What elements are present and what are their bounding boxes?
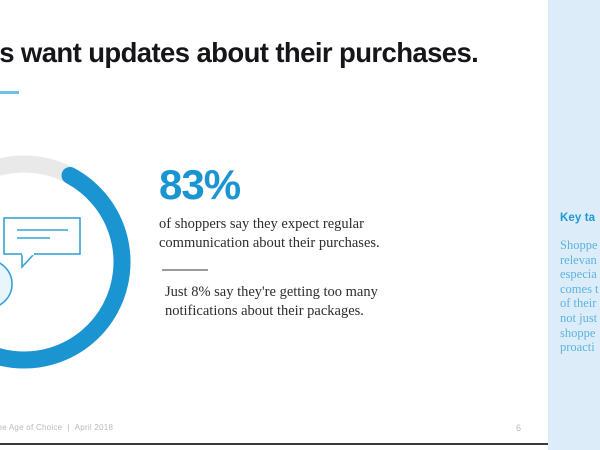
speech-bubble-icon [0, 212, 100, 322]
page-title: ppers want updates about their purchases… [0, 37, 600, 69]
key-takeaway-line: especia [560, 267, 600, 282]
slide-canvas: ppers want updates about their purchases… [0, 0, 600, 450]
page-number: 6 [516, 423, 521, 433]
stat-lead-text: of shoppers say they expect regular comm… [159, 215, 399, 253]
key-takeaway-line: relevan [560, 253, 600, 268]
speech-bubble-tail [22, 254, 34, 267]
key-takeaway-title: Key ta [560, 212, 600, 224]
key-takeaway-line: of their [560, 296, 600, 311]
key-takeaway-body: Shoppe relevan especia comes t of their … [560, 238, 600, 355]
stat-value: 83% [159, 163, 409, 207]
title-underline-rule [0, 91, 19, 94]
face-icon [0, 260, 12, 308]
key-takeaway-line: not just [560, 311, 600, 326]
footer-date: April 2018 [75, 423, 114, 432]
stat-block: 83% of shoppers say they expect regular … [159, 163, 409, 321]
key-takeaway-panel: Key ta Shoppe relevan especia comes t of… [548, 0, 600, 450]
key-takeaway-line: comes t [560, 282, 600, 297]
footer-separator: | [67, 423, 69, 432]
footer-divider [0, 443, 548, 445]
footer-caption: ppers in the Age of Choice|April 2018 [0, 423, 113, 432]
speech-bubble-body [4, 218, 80, 254]
stat-sub-text: Just 8% say they're getting too many not… [165, 283, 395, 321]
key-takeaway-line: Shoppe [560, 238, 600, 253]
key-takeaway-line: shoppe [560, 326, 600, 341]
key-takeaway-content: Key ta Shoppe relevan especia comes t of… [560, 212, 600, 355]
key-takeaway-line: proacti [560, 340, 600, 355]
footer-title: ppers in the Age of Choice [0, 423, 62, 432]
stat-divider [162, 269, 208, 271]
